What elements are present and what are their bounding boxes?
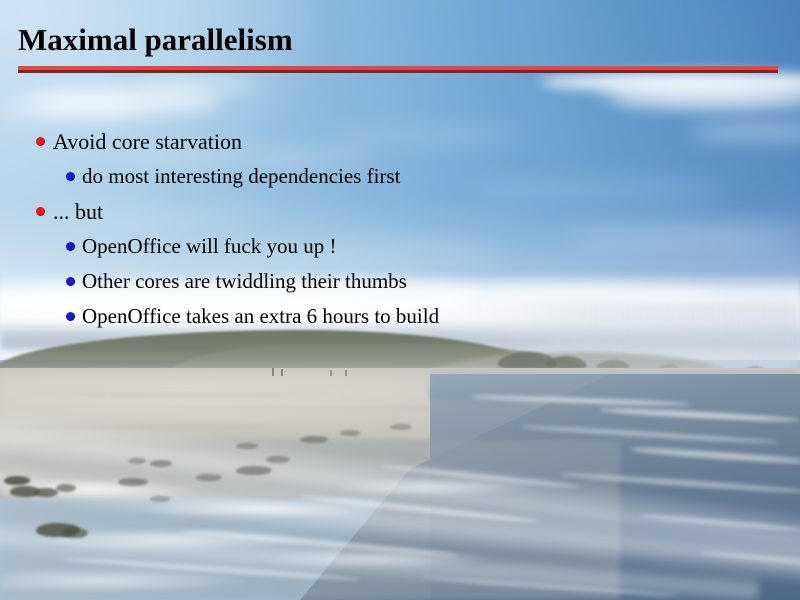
bullet-marker-red-icon: [36, 137, 45, 146]
bullet-item-level2: OpenOffice takes an extra 6 hours to bui…: [0, 299, 800, 334]
slide-title: Maximal parallelism: [18, 22, 293, 58]
bullet-marker-blue-icon: [66, 242, 75, 251]
title-underline-rule: [18, 66, 778, 73]
bullet-marker-red-icon: [36, 207, 45, 216]
bullet-marker-blue-icon: [66, 277, 75, 286]
bullet-text: OpenOffice will fuck you up !: [82, 234, 336, 259]
rule-shadow: [18, 70, 778, 73]
bullet-text: do most interesting dependencies first: [82, 164, 400, 189]
bullet-text: Other cores are twiddling their thumbs: [82, 269, 407, 294]
presentation-slide: Maximal parallelism Avoid core starvatio…: [0, 0, 800, 600]
bullet-text: ... but: [53, 199, 103, 225]
bullet-text: OpenOffice takes an extra 6 hours to bui…: [82, 304, 439, 329]
bullet-item-level1: ... but: [0, 194, 800, 229]
bullet-list: Avoid core starvationdo most interesting…: [0, 124, 800, 334]
bullet-item-level2: Other cores are twiddling their thumbs: [0, 264, 800, 299]
bullet-marker-blue-icon: [66, 172, 75, 181]
bullet-item-level1: Avoid core starvation: [0, 124, 800, 159]
bullet-item-level2: do most interesting dependencies first: [0, 159, 800, 194]
bullet-marker-blue-icon: [66, 312, 75, 321]
bullet-item-level2: OpenOffice will fuck you up !: [0, 229, 800, 264]
bullet-text: Avoid core starvation: [53, 129, 242, 155]
slide-content: Maximal parallelism Avoid core starvatio…: [0, 0, 800, 600]
